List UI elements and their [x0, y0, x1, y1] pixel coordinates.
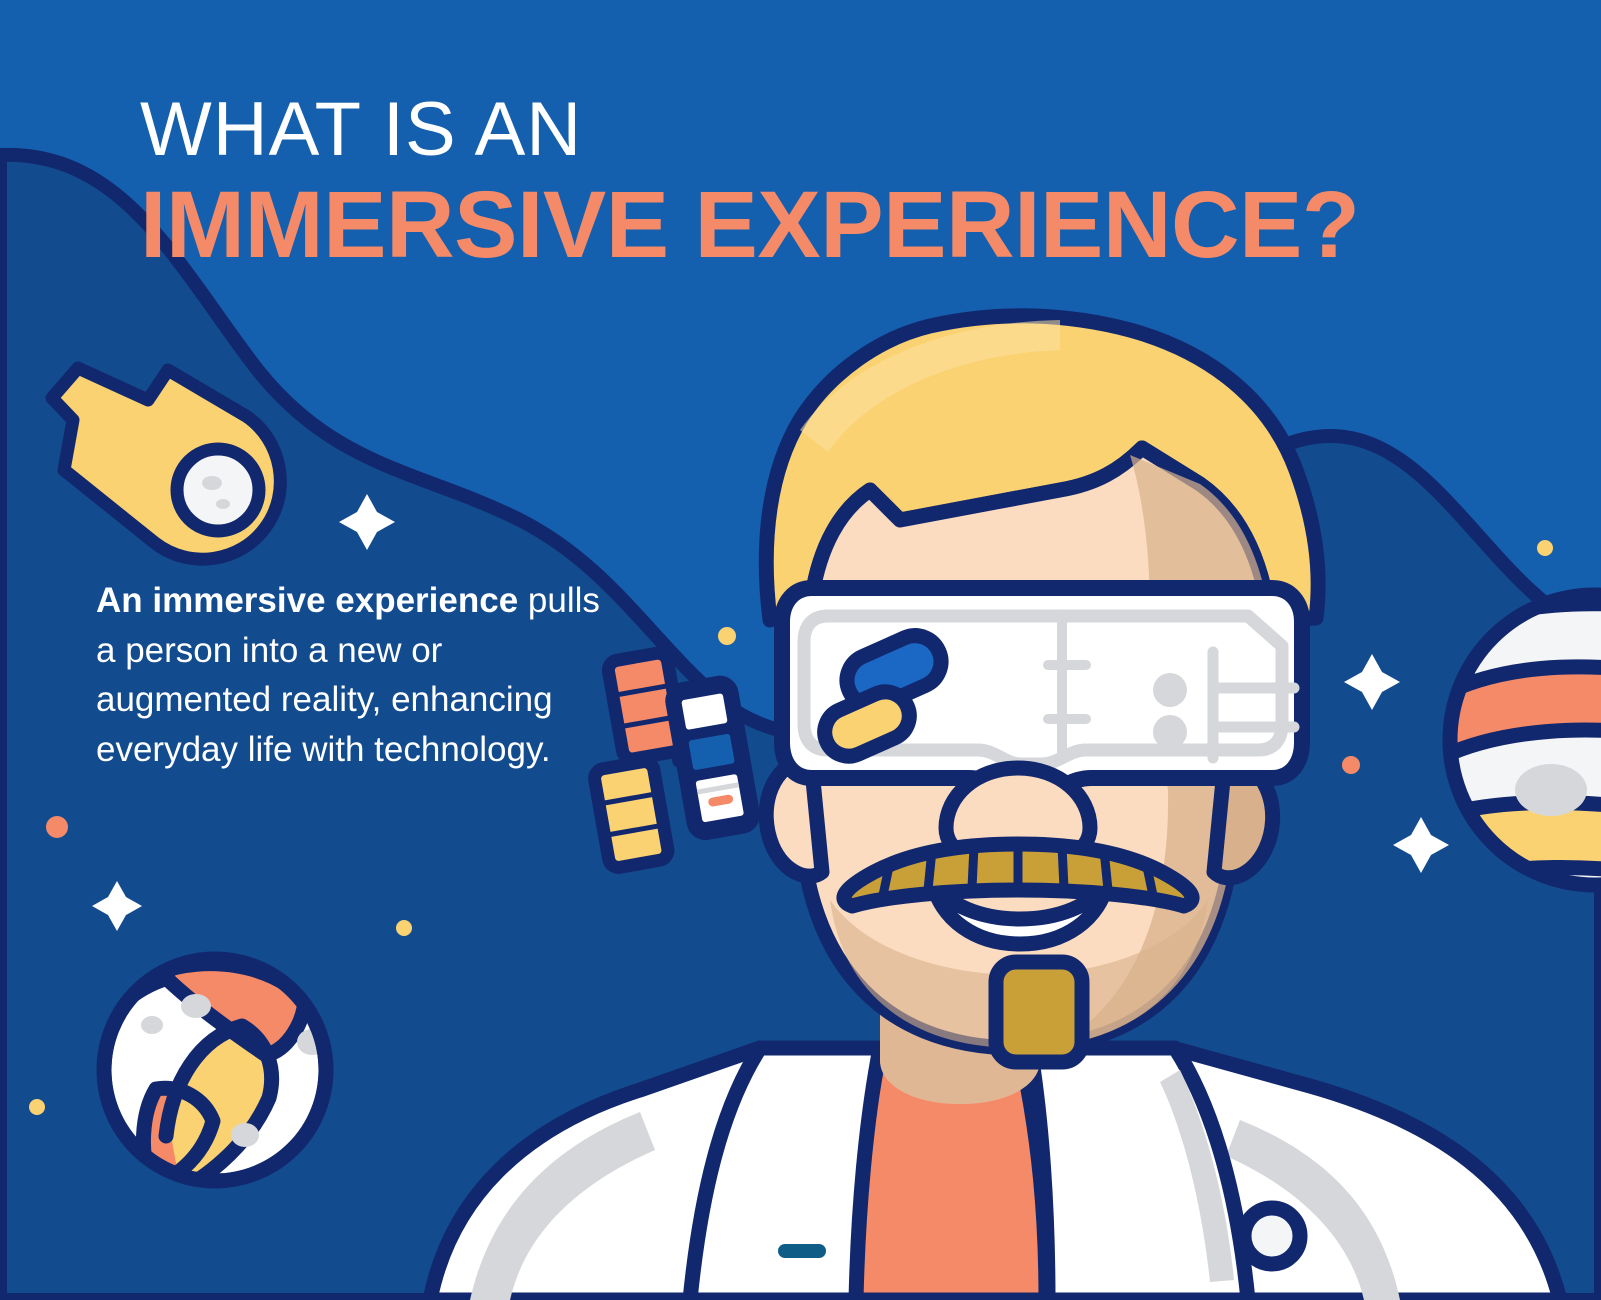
accent-dot [718, 627, 736, 645]
accent-dot [29, 1099, 45, 1115]
illustration-artwork [0, 0, 1601, 1300]
lapel-pin [778, 1244, 826, 1258]
soul-patch [996, 962, 1082, 1062]
infographic-canvas: WHAT IS AN IMMERSIVE EXPERIENCE? An imme… [0, 0, 1601, 1300]
solar-panel [593, 760, 669, 869]
accent-dot [1342, 756, 1360, 774]
accent-dot [46, 816, 68, 838]
vr-goggles-icon [782, 588, 1302, 790]
accent-dot [396, 920, 412, 936]
coat-button [1244, 1208, 1300, 1264]
accent-dot [1537, 540, 1553, 556]
